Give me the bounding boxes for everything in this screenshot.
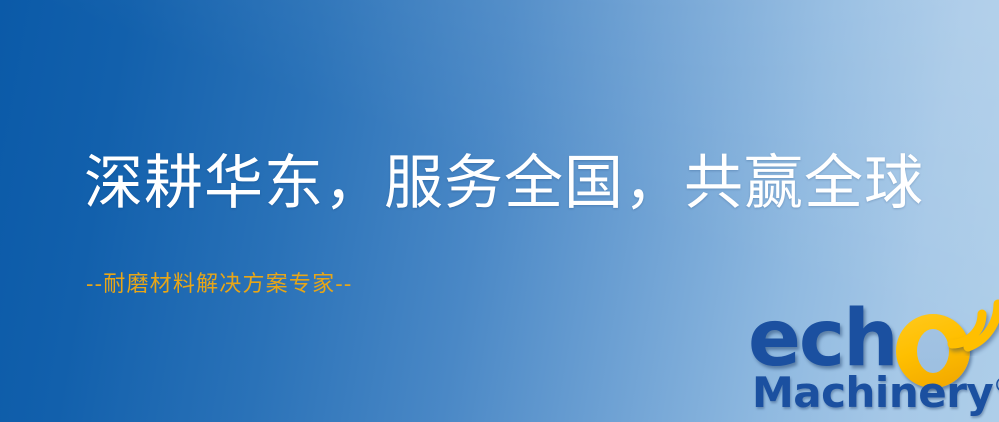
registered-trademark-icon: ® <box>993 373 999 397</box>
company-logo: ech Machinery® <box>748 300 999 422</box>
logo-wordmark-ech: ech <box>748 300 897 378</box>
banner-headline: 深耕华东，服务全国，共赢全球 <box>84 152 924 214</box>
signal-waves-icon <box>942 294 999 356</box>
promo-banner: 深耕华东，服务全国，共赢全球 --耐磨材料解决方案专家-- ech Machin… <box>0 0 999 422</box>
logo-company-name: Machinery® <box>752 372 999 414</box>
logo-company-label: Machinery <box>752 368 993 417</box>
banner-subtitle: --耐磨材料解决方案专家-- <box>86 266 353 298</box>
